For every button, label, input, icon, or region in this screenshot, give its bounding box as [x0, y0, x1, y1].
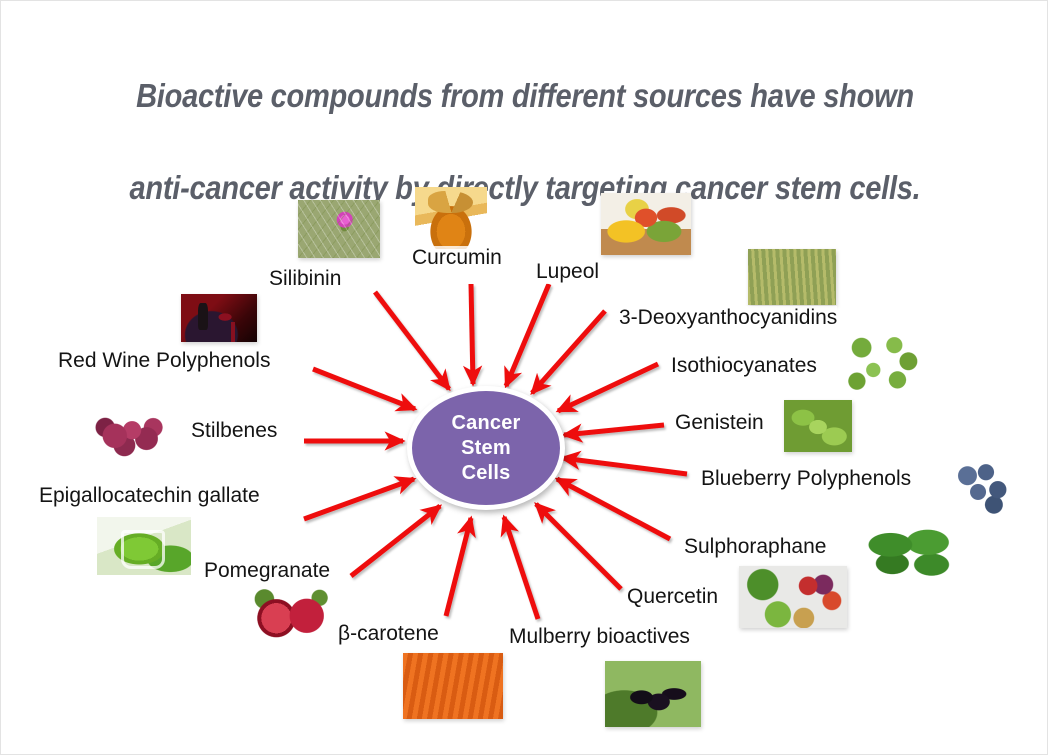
arrow-epigallocatechin-gallate	[304, 479, 414, 519]
label-3-deoxyanthocyanidins[interactable]: 3-Deoxyanthocyanidins	[619, 306, 837, 330]
center-node-cancer-stem-cells[interactable]: Cancer Stem Cells	[407, 386, 565, 510]
center-node-line-1: Cancer	[451, 411, 520, 436]
thumbnail-sorghum-field	[748, 249, 836, 305]
label-red-wine-polyphenols[interactable]: Red Wine Polyphenols	[58, 349, 270, 373]
arrow-pomegranate	[351, 506, 440, 576]
thumbnail-chopped-broccoli	[846, 334, 924, 396]
label-pomegranate[interactable]: Pomegranate	[204, 559, 330, 583]
arrow-blueberry-polyphenols	[562, 458, 687, 474]
arrow-silibinin	[375, 292, 449, 389]
arrow-deoxyanthocyanidins	[532, 311, 605, 393]
label-mulberry-bioactives[interactable]: Mulberry bioactives	[509, 625, 690, 649]
thumbnail-green-tea-cup	[97, 517, 191, 575]
label-sulphoraphane[interactable]: Sulphoraphane	[684, 535, 826, 559]
thumbnail-broccoli-florets	[861, 520, 959, 582]
thumbnail-mulberries-on-branch	[605, 661, 701, 727]
arrow-lupeol	[506, 284, 549, 386]
arrow-quercetin	[536, 504, 621, 589]
center-node-line-2: Stem	[461, 436, 511, 461]
infographic-canvas: Bioactive compounds from different sourc…	[0, 0, 1048, 755]
thumbnail-soybeans	[784, 400, 852, 452]
thumbnail-mangoes-in-bowl	[601, 193, 691, 255]
thumbnail-pomegranates	[246, 581, 338, 641]
center-node-line-3: Cells	[462, 461, 511, 486]
label-genistein[interactable]: Genistein	[675, 411, 764, 435]
arrow-beta-carotene	[446, 518, 471, 616]
arrow-isothiocyanates	[558, 364, 658, 411]
label-quercetin[interactable]: Quercetin	[627, 585, 718, 609]
label-beta-carotene[interactable]: β-carotene	[338, 622, 439, 646]
arrow-genistein	[564, 425, 664, 435]
arrow-curcumin	[471, 284, 473, 384]
thumbnail-milk-thistle-flower	[298, 200, 380, 258]
label-stilbenes[interactable]: Stilbenes	[191, 419, 277, 443]
arrow-red-wine-polyphenols	[313, 369, 415, 409]
label-blueberry-polyphenols[interactable]: Blueberry Polyphenols	[701, 467, 911, 491]
arrow-mulberry-bioactives	[504, 517, 538, 619]
thumbnail-blueberries	[949, 456, 1015, 514]
label-epigallocatechin-gallate[interactable]: Epigallocatechin gallate	[39, 484, 260, 508]
thumbnail-carrots	[403, 653, 503, 719]
thumbnail-red-wine-bottle-and-glass	[181, 294, 257, 342]
label-silibinin[interactable]: Silibinin	[269, 267, 341, 291]
label-lupeol[interactable]: Lupeol	[536, 260, 599, 284]
label-curcumin[interactable]: Curcumin	[412, 246, 502, 270]
thumbnail-red-grapes	[86, 405, 182, 461]
thumbnail-assorted-vegetables	[739, 566, 847, 628]
thumbnail-turmeric-powder-and-roots	[415, 187, 487, 249]
label-isothiocyanates[interactable]: Isothiocyanates	[671, 354, 817, 378]
arrow-sulphoraphane	[557, 479, 670, 539]
